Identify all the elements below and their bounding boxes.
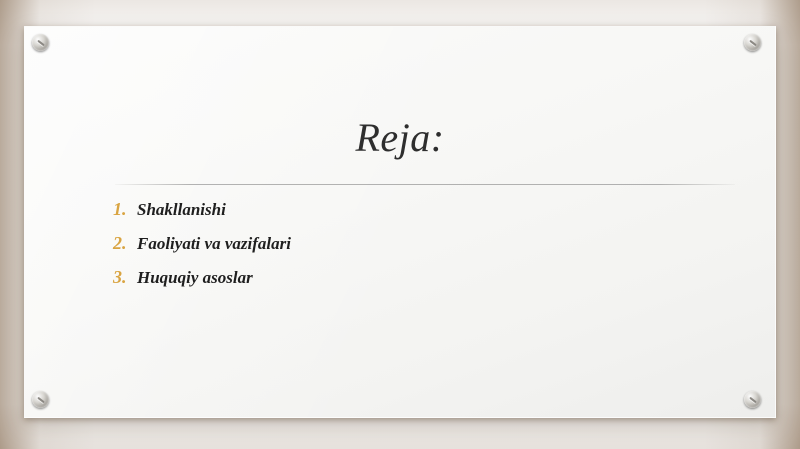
slide-panel: Reja: 1. Shakllanishi 2. Faoliyati va va… bbox=[24, 26, 776, 418]
presentation-slide: Reja: 1. Shakllanishi 2. Faoliyati va va… bbox=[0, 0, 800, 449]
screw-icon bbox=[32, 34, 49, 51]
screw-icon bbox=[744, 34, 761, 51]
title-divider bbox=[115, 184, 735, 185]
list-item-number: 1. bbox=[113, 199, 137, 220]
screw-icon bbox=[32, 391, 49, 408]
page-title: Reja: bbox=[25, 114, 775, 161]
screw-icon bbox=[744, 391, 761, 408]
list-item-label: Shakllanishi bbox=[137, 200, 226, 220]
agenda-list: 1. Shakllanishi 2. Faoliyati va vazifala… bbox=[113, 199, 713, 301]
list-item: 3. Huquqiy asoslar bbox=[113, 267, 713, 291]
list-item-number: 3. bbox=[113, 267, 137, 288]
list-item-label: Huquqiy asoslar bbox=[137, 268, 253, 288]
list-item-label: Faoliyati va vazifalari bbox=[137, 234, 291, 254]
list-item: 1. Shakllanishi bbox=[113, 199, 713, 223]
list-item: 2. Faoliyati va vazifalari bbox=[113, 233, 713, 257]
list-item-number: 2. bbox=[113, 233, 137, 254]
